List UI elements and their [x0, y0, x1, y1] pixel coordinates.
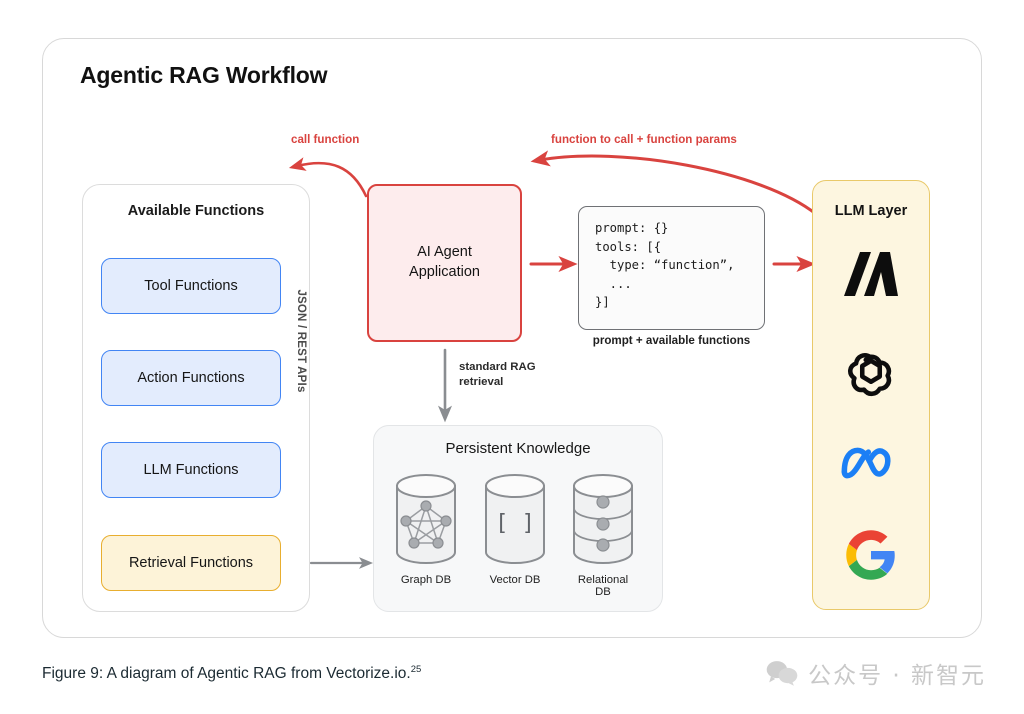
relational-db-icon [570, 472, 636, 566]
database-label: Vector DB [482, 574, 548, 586]
wechat-watermark: 公众号 · 新智元 [765, 656, 986, 690]
label-function-to-call: function to call + function params [551, 133, 737, 146]
available-functions-heading: Available Functions [82, 203, 310, 219]
vector-db-glyph: [ ] [495, 511, 535, 536]
ai-agent-application-box[interactable]: AI AgentApplication [367, 184, 522, 342]
label-standard-rag-retrieval: standard RAGretrieval [459, 360, 536, 390]
openai-logo [812, 345, 930, 406]
wechat-icon [765, 659, 799, 687]
ai-agent-label: AI AgentApplication [409, 243, 480, 282]
function-box-action[interactable]: Action Functions [101, 350, 281, 406]
page-title: Agentic RAG Workflow [80, 62, 327, 89]
database-label: Graph DB [393, 574, 459, 586]
graph-db-icon [393, 472, 459, 566]
function-box-label: LLM Functions [143, 462, 238, 478]
wechat-watermark-text: 公众号 · 新智元 [808, 656, 986, 690]
figure-caption-text: Figure 9: A diagram of Agentic RAG from … [42, 665, 411, 682]
function-box-label: Action Functions [137, 370, 244, 386]
vector-db-icon: [ ] [482, 472, 548, 566]
function-box-label: Retrieval Functions [129, 555, 253, 571]
llm-layer-heading: LLM Layer [812, 203, 930, 219]
database-graph: Graph DB [393, 472, 459, 586]
function-box-retrieval[interactable]: Retrieval Functions [101, 535, 281, 591]
database-relational: Relational DB [570, 472, 636, 598]
function-box-llm[interactable]: LLM Functions [101, 442, 281, 498]
persistent-knowledge-heading: Persistent Knowledge [373, 440, 663, 457]
prompt-code-block: prompt: {} tools: [{ type: “function”, .… [578, 206, 765, 330]
prompt-code-caption: prompt + available functions [578, 334, 765, 347]
prompt-code-text: prompt: {} tools: [{ type: “function”, .… [595, 219, 764, 312]
anthropic-logo [812, 250, 930, 303]
figure-caption-footnote: 25 [411, 664, 422, 675]
json-rest-apis-label: JSON / REST APIs [295, 271, 307, 411]
figure-stage: Agentic RAG Workflow Available Functions… [0, 0, 1024, 714]
database-label: Relational DB [570, 574, 636, 598]
meta-logo [812, 440, 930, 487]
figure-caption: Figure 9: A diagram of Agentic RAG from … [42, 664, 421, 683]
database-vector: [ ] Vector DB [482, 472, 548, 586]
label-call-function: call function [291, 133, 359, 146]
function-box-label: Tool Functions [144, 278, 238, 294]
google-logo [812, 528, 930, 587]
function-box-tool[interactable]: Tool Functions [101, 258, 281, 314]
